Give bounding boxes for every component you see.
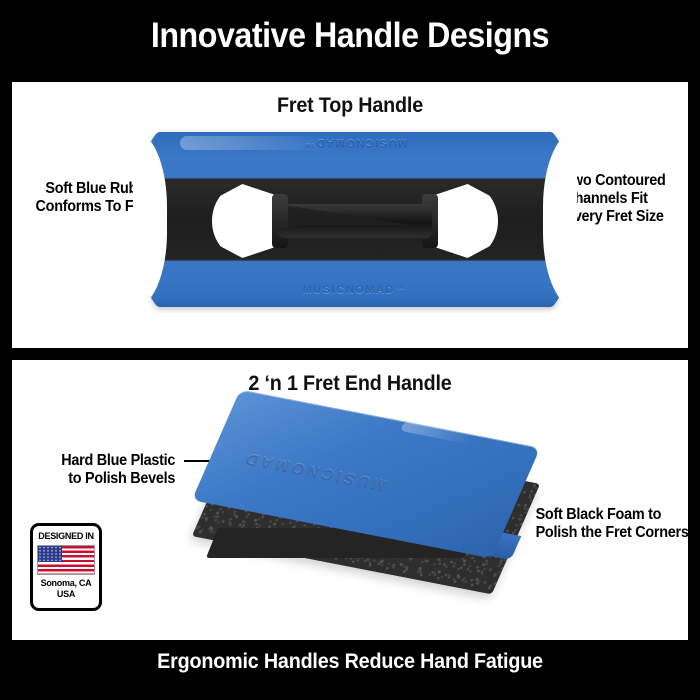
handle-post-left	[272, 194, 288, 248]
callout-line: Hard Blue Plastic	[45, 452, 175, 470]
blue-rubber-body	[150, 132, 560, 307]
badge-top-label: DESIGNED IN	[35, 531, 98, 542]
callout-two-contoured-channels: Two Contoured Channels Fit Every Fret Si…	[564, 172, 683, 226]
callout-line: Every Fret Size	[564, 208, 683, 226]
panel-fret-end-handle: 2 ‘n 1 Fret End Handle Hard Blue Plastic…	[12, 360, 688, 640]
us-flag-icon	[37, 545, 95, 575]
product-image-fret-top-handle: MUSICNOMAD™ MUSICNOMAD™	[150, 132, 560, 307]
infographic-page: Innovative Handle Designs Fret Top Handl…	[0, 0, 700, 700]
badge-country: USA	[35, 589, 98, 600]
badge-city-state: Sonoma, CA	[35, 578, 98, 589]
brand-emboss-bottom: MUSICNOMAD™	[150, 284, 560, 296]
panel-fret-top-handle: Fret Top Handle Soft Blue Rubber Conform…	[12, 82, 688, 348]
callout-line: Soft Black Foam to	[536, 506, 685, 524]
finger-hole-left	[212, 184, 278, 258]
callout-soft-black-foam: Soft Black Foam to Polish the Fret Corne…	[536, 506, 685, 542]
panel-title-fret-top-handle: Fret Top Handle	[32, 94, 667, 118]
finger-hole-right	[432, 184, 498, 258]
callout-hard-blue-plastic: Hard Blue Plastic to Polish Bevels	[45, 452, 175, 488]
callout-line: Two Contoured	[564, 172, 683, 190]
callout-line: Channels Fit	[564, 190, 683, 208]
callout-line: Polish the Fret Corners	[536, 524, 685, 542]
brand-emboss-top: MUSICNOMAD™	[150, 137, 560, 149]
product-image-fret-end-handle: MUSICNOMAD	[202, 388, 542, 613]
page-title: Innovative Handle Designs	[28, 14, 672, 58]
designed-in-usa-badge: DESIGNED IN Sonoma, CA USA	[30, 523, 102, 611]
flag-canton	[38, 546, 62, 562]
footer-tagline: Ergonomic Handles Reduce Hand Fatigue	[21, 650, 679, 674]
callout-line: to Polish Bevels	[45, 470, 175, 488]
